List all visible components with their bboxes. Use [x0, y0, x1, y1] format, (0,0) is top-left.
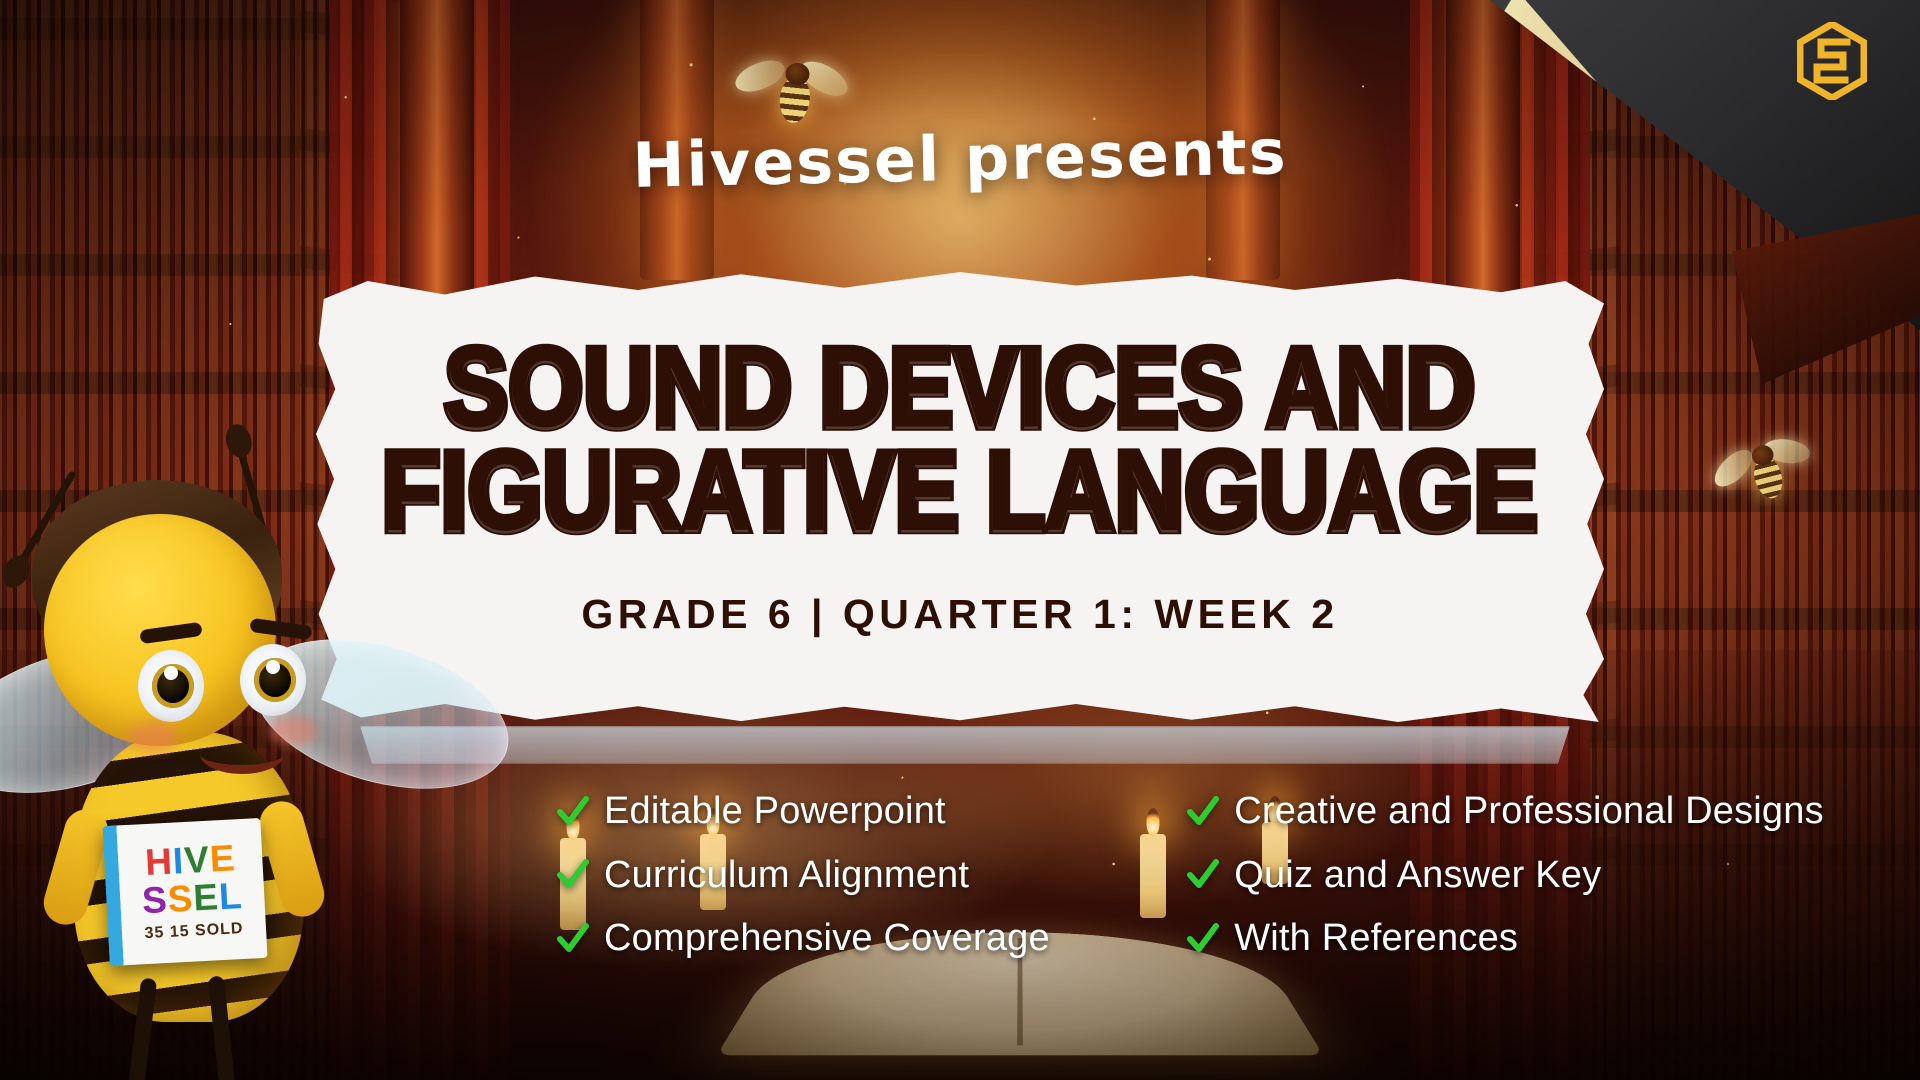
mascot-eyebrow-left: [139, 622, 202, 644]
book-title-line-2: SSEL: [141, 878, 243, 918]
slide-canvas: Hivessel presents SOUND DEVICES AND FIGU…: [0, 0, 1920, 1080]
list-item: Curriculum Alignment: [556, 854, 1114, 897]
mascot-head: [44, 514, 276, 746]
green-checkmark-icon: [1186, 922, 1220, 956]
mascot-cheek-left: [128, 722, 178, 752]
green-checkmark-icon: [1186, 858, 1220, 892]
feature-column-left: Editable Powerpoint Curriculum Alignment…: [556, 790, 1114, 960]
book-badge: 35 15 SOLD: [144, 920, 244, 943]
feature-label: Curriculum Alignment: [604, 854, 969, 897]
green-checkmark-icon: [1186, 795, 1220, 829]
feature-label: With References: [1234, 917, 1518, 960]
mascot-book: HIVE SSEL 35 15 SOLD: [102, 818, 267, 966]
feature-label: Quiz and Answer Key: [1234, 854, 1601, 897]
bee-mascot: HIVE SSEL 35 15 SOLD: [0, 470, 502, 1080]
list-item: Quiz and Answer Key: [1186, 854, 1884, 897]
title-block: SOUND DEVICES AND FIGURATIVE LANGUAGE GR…: [316, 272, 1604, 722]
feature-column-right: Creative and Professional Designs Quiz a…: [1186, 790, 1884, 960]
mascot-eye-left: [138, 650, 204, 722]
green-checkmark-icon: [556, 858, 590, 892]
list-item: Editable Powerpoint: [556, 790, 1114, 833]
title-line-1: SOUND DEVICES AND: [382, 337, 1538, 440]
subtitle-grade-quarter-week: GRADE 6 | QUARTER 1: WEEK 2: [581, 591, 1338, 638]
feature-label: Editable Powerpoint: [604, 790, 946, 833]
mascot-eye-right: [240, 644, 306, 716]
page-title: SOUND DEVICES AND FIGURATIVE LANGUAGE: [382, 337, 1538, 543]
title-line-2: FIGURATIVE LANGUAGE: [382, 441, 1538, 544]
mascot-eyebrow-right: [249, 618, 312, 640]
green-checkmark-icon: [556, 795, 590, 829]
list-item: Creative and Professional Designs: [1186, 790, 1884, 833]
card-drop-shadow: [360, 726, 1570, 764]
feature-label: Creative and Professional Designs: [1234, 790, 1824, 833]
feature-label: Comprehensive Coverage: [604, 917, 1050, 960]
mascot-mouth: [200, 734, 284, 774]
list-item: With References: [1186, 917, 1884, 960]
feature-list: Editable Powerpoint Curriculum Alignment…: [556, 790, 1884, 990]
hexagon-s-logo-icon[interactable]: [1797, 22, 1867, 100]
green-checkmark-icon: [556, 922, 590, 956]
list-item: Comprehensive Coverage: [556, 917, 1114, 960]
